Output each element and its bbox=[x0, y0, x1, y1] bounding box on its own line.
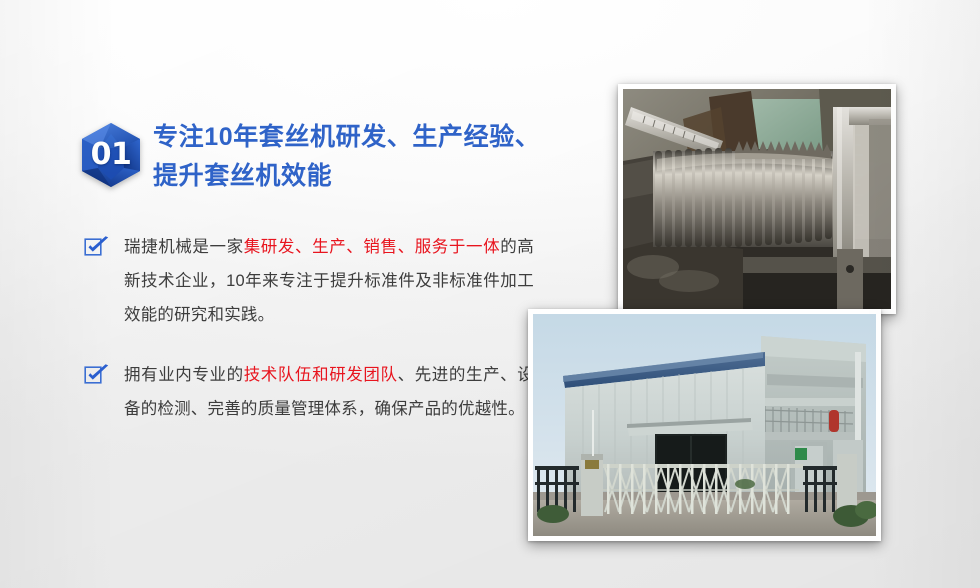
bullet-1-seg-2-highlight: 集研发、生产、销售、服务于一体 bbox=[244, 238, 501, 256]
threaded-pipe-photo bbox=[618, 84, 896, 314]
promo-banner: 01 专注10年套丝机研发、生产经验、 提升套丝机效能 瑞捷机械是一家集研发、生… bbox=[0, 0, 980, 588]
check-box-icon bbox=[84, 236, 110, 258]
bullet-1-seg-1: 瑞捷机械是一家 bbox=[124, 238, 244, 256]
list-item-text: 瑞捷机械是一家集研发、生产、销售、服务于一体的高新技术企业，10年来专注于提升标… bbox=[124, 230, 534, 332]
text-column: 01 专注10年套丝机研发、生产经验、 提升套丝机效能 瑞捷机械是一家集研发、生… bbox=[0, 0, 560, 588]
list-item: 拥有业内专业的技术队伍和研发团队、先进的生产、设备的检测、完善的质量管理体系，确… bbox=[84, 358, 534, 426]
list-item-text: 拥有业内专业的技术队伍和研发团队、先进的生产、设备的检测、完善的质量管理体系，确… bbox=[124, 358, 534, 426]
check-box-icon bbox=[84, 364, 110, 386]
number-badge-hexagon-icon: 01 bbox=[80, 122, 142, 188]
page-title: 专注10年套丝机研发、生产经验、 提升套丝机效能 bbox=[153, 118, 553, 196]
bullet-2-seg-1: 拥有业内专业的 bbox=[124, 366, 244, 384]
list-item: 瑞捷机械是一家集研发、生产、销售、服务于一体的高新技术企业，10年来专注于提升标… bbox=[84, 230, 534, 332]
factory-building-photo bbox=[528, 309, 881, 541]
number-badge-label: 01 bbox=[80, 122, 142, 188]
feature-bullet-list: 瑞捷机械是一家集研发、生产、销售、服务于一体的高新技术企业，10年来专注于提升标… bbox=[84, 230, 534, 452]
bullet-2-seg-2-highlight: 技术队伍和研发团队 bbox=[244, 366, 398, 384]
